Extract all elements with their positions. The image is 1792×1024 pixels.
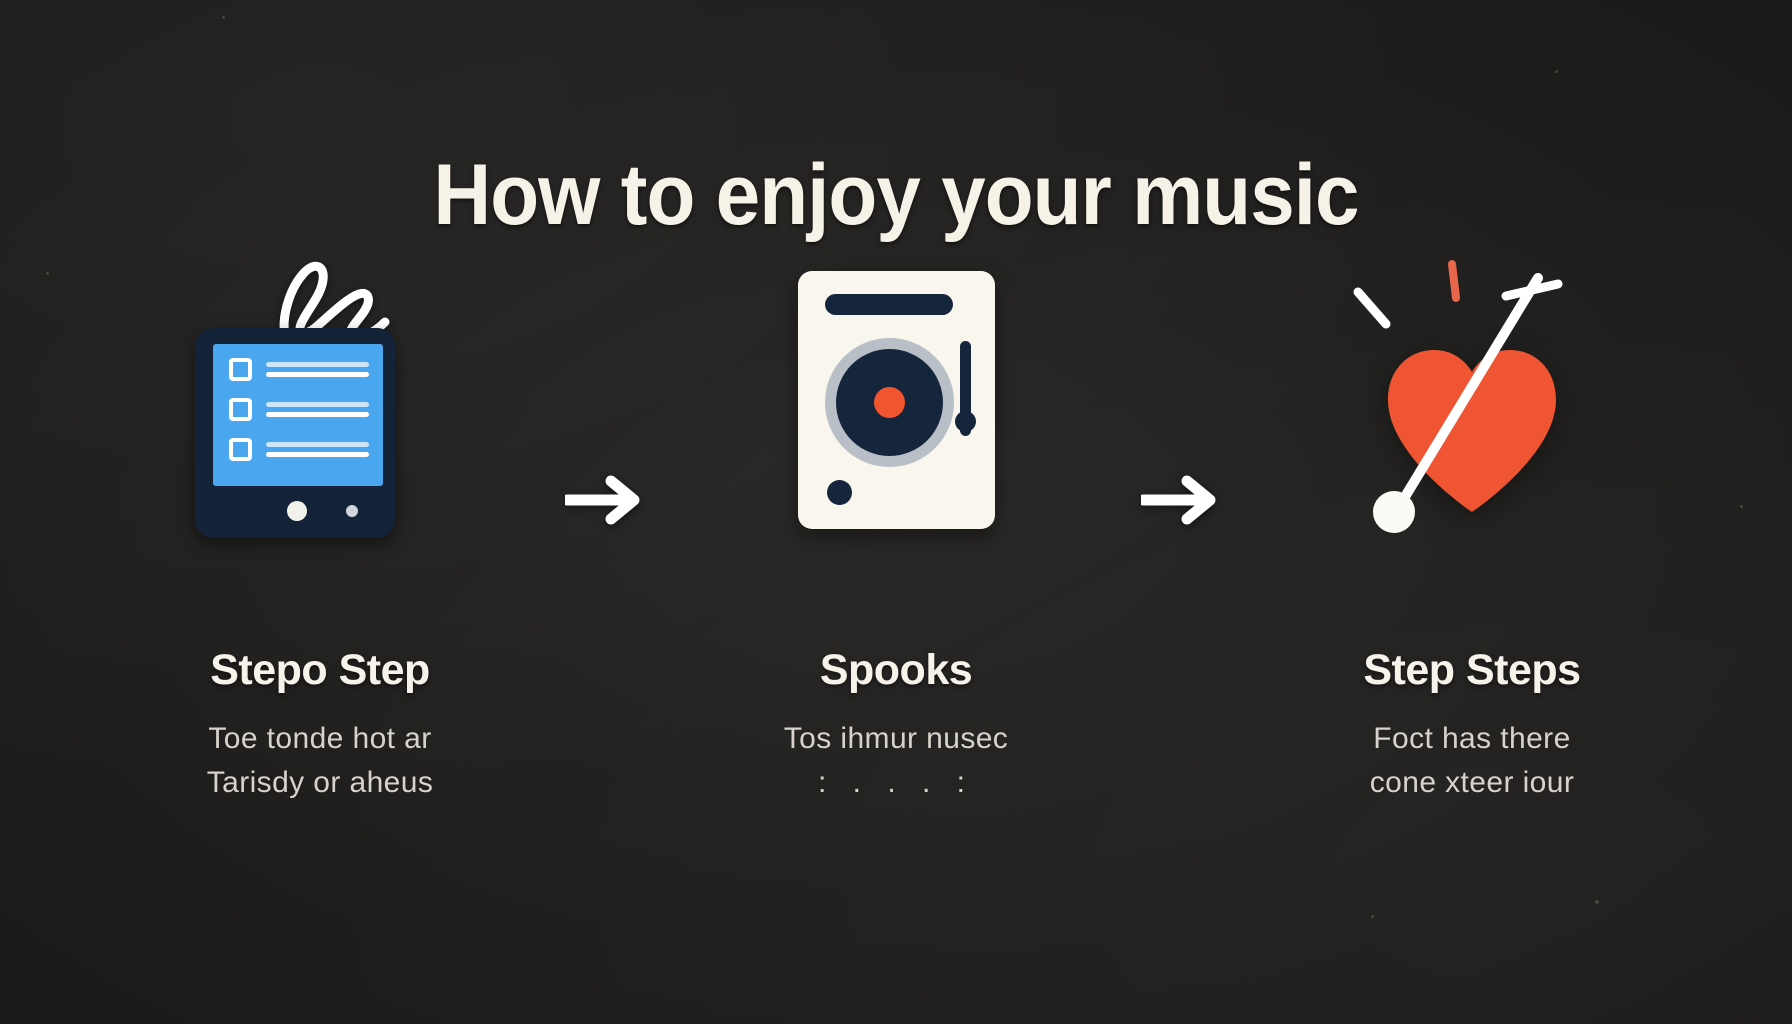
speck: [1595, 900, 1599, 904]
step-2-body: Tos ihmur nusec : . . . :: [784, 717, 1008, 806]
speaker-turntable-icon: [798, 271, 995, 529]
checklist-item: [229, 398, 383, 421]
step-3-body-line-2: cone xteer iour: [1370, 761, 1574, 805]
tablet-indicator-dot: [346, 505, 358, 517]
speck: [222, 16, 225, 19]
step-column-3: Step Steps Foct has there cone xteer iou…: [1272, 250, 1672, 806]
sparkle-tick-orange: [1452, 264, 1456, 298]
speaker-ring: [825, 338, 954, 467]
sparkle-tick-white: [1358, 292, 1386, 324]
checkbox-icon: [229, 358, 252, 381]
page-title: How to enjoy your music: [63, 146, 1730, 245]
checklist-lines: [266, 442, 383, 457]
tablet-body: [195, 328, 395, 538]
tablet-screen: [213, 344, 383, 486]
checklist-lines: [266, 402, 383, 417]
step-3-heading: Step Steps: [1363, 646, 1580, 695]
speck: [1740, 505, 1743, 508]
step-1-illustration: [120, 250, 520, 550]
arrow-right-icon-2: [1129, 350, 1239, 650]
checklist-lines: [266, 362, 383, 377]
speck: [1371, 915, 1374, 918]
speaker-slider-knob: [955, 411, 976, 432]
steps-row: Stepo Step Toe tonde hot ar Tarisdy or a…: [120, 250, 1672, 806]
speaker-small-dot: [827, 480, 852, 505]
step-2-body-line-2: : . . . :: [784, 761, 1008, 805]
speaker-disc: [836, 349, 943, 456]
step-1-heading: Stepo Step: [210, 646, 430, 695]
checkbox-icon: [229, 398, 252, 421]
pin-cross-bar: [1506, 284, 1558, 296]
tablet-checklist-icon: [195, 250, 445, 550]
step-3-body-line-1: Foct has there: [1370, 717, 1574, 761]
speaker-grille-bar: [825, 294, 953, 315]
pin-ball: [1373, 491, 1415, 533]
step-1-body: Toe tonde hot ar Tarisdy or aheus: [207, 717, 434, 806]
checkbox-icon: [229, 438, 252, 461]
step-2-heading: Spooks: [820, 646, 972, 695]
step-2-body-line-1: Tos ihmur nusec: [784, 717, 1008, 761]
step-3-body: Foct has there cone xteer iour: [1370, 717, 1574, 806]
speck: [1555, 70, 1558, 73]
step-1-body-line-1: Toe tonde hot ar: [207, 717, 434, 761]
speck: [46, 272, 49, 275]
speaker-center-dot: [874, 387, 905, 418]
heart-with-pin-icon: [1352, 250, 1592, 550]
checklist-item: [229, 358, 383, 381]
step-column-1: Stepo Step Toe tonde hot ar Tarisdy or a…: [120, 250, 520, 806]
checklist-item: [229, 438, 383, 461]
step-3-illustration: [1272, 250, 1672, 550]
step-column-2: Spooks Tos ihmur nusec : . . . :: [696, 250, 1096, 806]
arrow-right-icon-1: [553, 350, 663, 650]
tablet-home-dot: [287, 501, 307, 521]
step-1-body-line-2: Tarisdy or aheus: [207, 761, 434, 805]
step-2-illustration: [696, 250, 1096, 550]
